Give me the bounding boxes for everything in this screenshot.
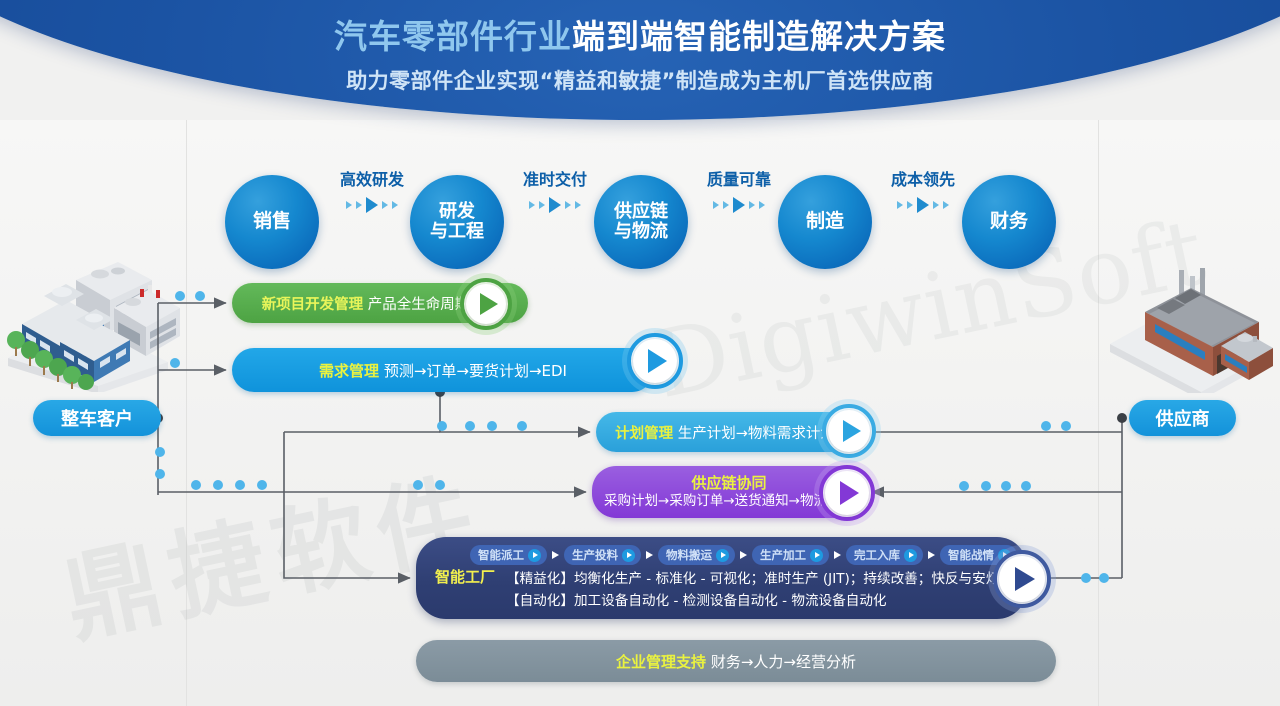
play-button-demand-management[interactable] [622,328,688,394]
play-icon[interactable] [999,556,1045,602]
smart-factory-line: 【自动化】加工设备自动化 - 检测设备自动化 - 物流设备自动化 [506,590,1006,612]
module-bar-text: 企业管理支持 财务→人力→经营分析 [416,651,1056,672]
module-bar-plan-management[interactable]: 计划管理 生产计划→物料需求计划 [596,412,854,452]
play-button-new-project-development[interactable] [455,273,517,335]
factory-step-label: 生产投料 [572,547,618,563]
factory-step[interactable]: 生产投料 [564,545,641,565]
smart-factory-label: 智能工厂 [426,566,504,587]
module-bar-text: 需求管理 预测→订单→要货计划→EDI [232,360,654,381]
module-bar-demand-management[interactable]: 需求管理 预测→订单→要货计划→EDI [232,348,654,392]
factory-step[interactable]: 智能派工 [470,545,547,565]
module-highlight: 需求管理 [319,362,379,380]
module-detail: 财务→人力→经营分析 [711,653,856,671]
module-highlight: 企业管理支持 [616,653,706,671]
factory-step-label: 智能战情 [948,547,994,563]
play-icon[interactable] [810,549,823,562]
endpoint-badge-supplier[interactable]: 供应商 [1129,400,1236,436]
module-highlight: 计划管理 [615,426,673,442]
smart-factory-description: 【精益化】均衡化生产 - 标准化 - 可视化；准时生产 (JIT)；持续改善；快… [506,568,1006,612]
play-button-smart-factory[interactable] [988,545,1056,613]
endpoint-badge-oem-customer[interactable]: 整车客户 [33,400,161,436]
factory-step[interactable]: 生产加工 [752,545,829,565]
smart-factory-step-strip: 智能派工 生产投料 物料搬运 生产加工 完工入库 智能战情 [470,545,1017,565]
endpoint-label: 整车客户 [61,405,133,431]
play-icon[interactable] [716,549,729,562]
endpoint-label: 供应商 [1156,405,1210,431]
arrow-right-icon [928,551,935,559]
module-bar-text: 计划管理 生产计划→物料需求计划 [596,422,854,443]
module-bar-enterprise-support[interactable]: 企业管理支持 财务→人力→经营分析 [416,640,1056,682]
module-detail: 预测→订单→要货计划→EDI [384,362,567,380]
smart-factory-line: 【精益化】均衡化生产 - 标准化 - 可视化；准时生产 (JIT)；持续改善；快… [506,568,1006,590]
factory-step-label: 完工入库 [854,547,900,563]
play-icon[interactable] [466,284,506,324]
factory-step-label: 智能派工 [478,547,524,563]
factory-step-label: 生产加工 [760,547,806,563]
play-button-plan-management[interactable] [817,399,881,463]
arrow-right-icon [740,551,747,559]
module-highlight: 新项目开发管理 [262,297,364,313]
play-icon[interactable] [528,549,541,562]
factory-step[interactable]: 完工入库 [846,545,923,565]
play-icon[interactable] [828,410,870,452]
factory-step-label: 物料搬运 [666,547,712,563]
play-icon[interactable] [825,471,869,515]
play-icon[interactable] [633,339,677,383]
arrow-right-icon [834,551,841,559]
play-icon[interactable] [622,549,635,562]
module-detail: 生产计划→物料需求计划 [678,426,835,442]
factory-step[interactable]: 物料搬运 [658,545,735,565]
slide-canvas: 鼎捷软件 DigiwinSoft 汽车零部件行业端到端智能制造解决方案 助力零部… [0,0,1280,706]
play-button-supply-chain-collaboration[interactable] [814,460,880,526]
arrow-right-icon [646,551,653,559]
play-icon[interactable] [904,549,917,562]
arrow-right-icon [552,551,559,559]
